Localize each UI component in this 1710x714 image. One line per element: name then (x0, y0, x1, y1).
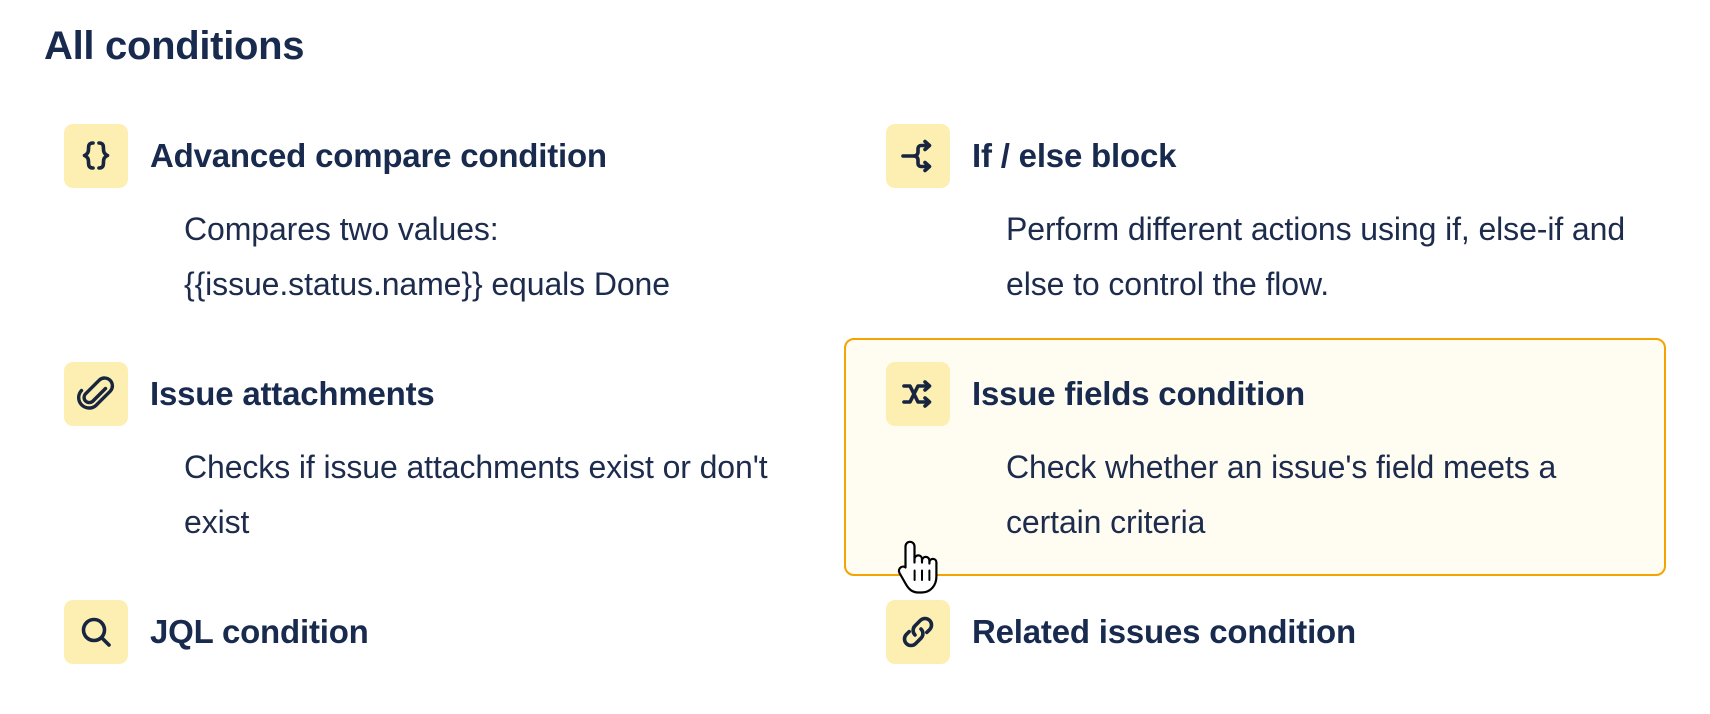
card-title: Advanced compare condition (150, 136, 607, 176)
if-else-branch-icon (886, 124, 950, 188)
shuffle-arrows-icon (886, 362, 950, 426)
curly-braces-icon (64, 124, 128, 188)
card-description: Compares two values: {{issue.status.name… (184, 202, 804, 312)
condition-card-advanced-compare[interactable]: Advanced compare condition Compares two … (22, 100, 844, 338)
card-header: If / else block (886, 124, 1638, 188)
card-description: Checks if issue attachments exist or don… (184, 440, 804, 550)
link-chain-icon (886, 600, 950, 664)
card-title: Related issues condition (972, 612, 1356, 652)
condition-card-jql[interactable]: JQL condition (22, 576, 844, 704)
conditions-grid: Advanced compare condition Compares two … (0, 100, 1710, 704)
card-header: Advanced compare condition (64, 124, 816, 188)
card-title: If / else block (972, 136, 1176, 176)
card-header: Issue fields condition (886, 362, 1638, 426)
condition-card-related-issues[interactable]: Related issues condition (844, 576, 1666, 704)
condition-card-if-else-block[interactable]: If / else block Perform different action… (844, 100, 1666, 338)
all-conditions-panel: All conditions Advanced compare conditio… (0, 0, 1710, 714)
card-description: Check whether an issue's field meets a c… (1006, 440, 1606, 550)
page-title: All conditions (44, 20, 304, 72)
card-header: Issue attachments (64, 362, 816, 426)
condition-card-issue-attachments[interactable]: Issue attachments Checks if issue attach… (22, 338, 844, 576)
condition-card-issue-fields[interactable]: Issue fields condition Check whether an … (844, 338, 1666, 576)
card-title: JQL condition (150, 612, 369, 652)
card-title: Issue fields condition (972, 374, 1305, 414)
paperclip-icon (64, 362, 128, 426)
card-header: JQL condition (64, 600, 816, 664)
card-description: Perform different actions using if, else… (1006, 202, 1626, 312)
card-header: Related issues condition (886, 600, 1638, 664)
card-title: Issue attachments (150, 374, 435, 414)
magnifier-icon (64, 600, 128, 664)
